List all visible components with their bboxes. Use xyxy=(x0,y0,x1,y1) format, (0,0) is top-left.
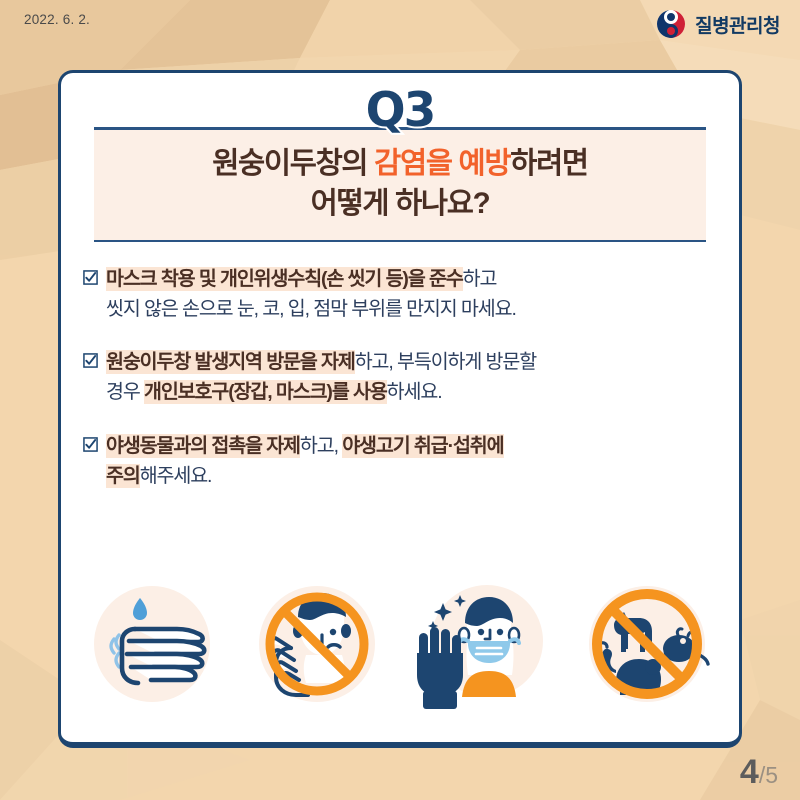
bullet-emphasis: 마스크 착용 및 개인위생수칙(손 씻기 등)을 준수 xyxy=(106,267,463,291)
bullet-emphasis: 개인보호구(장갑, 마스크)를 사용 xyxy=(144,380,387,404)
bullet-emphasis: 야생동물과의 접촉을 자제 xyxy=(106,434,300,458)
bullet-plain: 해주세요. xyxy=(140,465,212,487)
bullet-plain: 하고 xyxy=(463,268,497,290)
bullet-plain: 하세요. xyxy=(387,381,442,403)
bullet-emphasis: 야생고기 취급·섭취에 xyxy=(342,434,503,458)
bullet-item: 마스크 착용 및 개인위생수칙(손 씻기 등)을 준수하고씻지 않은 손으로 눈… xyxy=(83,264,739,324)
title-rule-bottom xyxy=(94,240,706,242)
page-total: /5 xyxy=(759,762,778,789)
page-current: 4 xyxy=(740,753,759,792)
title-segment-highlight: 감염을 예방 xyxy=(374,147,510,180)
content-card: 원숭이두창의 감염을 예방하려면 어떻게 하나요? Q3 마스크 착용 및 개인… xyxy=(58,70,742,748)
title-segment-pre: 원숭이두창의 xyxy=(212,147,374,180)
bullet-plain: 하고, xyxy=(300,435,342,457)
bullet-item: 야생동물과의 접촉을 자제하고, 야생고기 취급·섭취에주의해주세요. xyxy=(83,431,739,491)
question-title-line-1: 원숭이두창의 감염을 예방하려면 xyxy=(94,144,706,184)
bullet-text: 원숭이두창 발생지역 방문을 자제하고, 부득이하게 방문할경우 개인보호구(장… xyxy=(106,347,536,407)
title-segment-post: 하려면 xyxy=(510,147,588,180)
no-face-touching-icon xyxy=(240,577,395,712)
bullet-emphasis: 원숭이두창 발생지역 방문을 자제 xyxy=(106,350,355,374)
bullet-plain: 하고, 부득이하게 방문할 xyxy=(355,351,536,373)
no-wild-animals-icon xyxy=(570,577,725,712)
bullet-text: 마스크 착용 및 개인위생수칙(손 씻기 등)을 준수하고씻지 않은 손으로 눈… xyxy=(106,264,516,324)
publish-date: 2022. 6. 2. xyxy=(24,12,90,27)
bullet-plain: 경우 xyxy=(106,381,144,403)
checkbox-checked-icon xyxy=(83,437,98,452)
page-indicator: 4 /5 xyxy=(740,753,778,792)
korea-government-taegeuk-icon xyxy=(656,9,686,39)
page-header: 2022. 6. 2. 질병관리청 xyxy=(0,0,800,62)
question-title-line-2: 어떻게 하나요? xyxy=(94,184,706,224)
bullet-emphasis: 주의 xyxy=(106,464,140,488)
question-number-badge: Q3 xyxy=(94,87,706,134)
title-band: 원숭이두창의 감염을 예방하려면 어떻게 하나요? xyxy=(94,130,706,240)
mask-and-glove-person-icon xyxy=(405,577,560,712)
question-title-block: 원숭이두창의 감염을 예방하려면 어떻게 하나요? Q3 xyxy=(94,73,706,242)
checkbox-checked-icon xyxy=(83,270,98,285)
hand-washing-icon xyxy=(75,577,230,712)
brand-name: 질병관리청 xyxy=(695,11,780,38)
prevention-bullet-list: 마스크 착용 및 개인위생수칙(손 씻기 등)을 준수하고씻지 않은 손으로 눈… xyxy=(61,264,739,491)
checkbox-checked-icon xyxy=(83,353,98,368)
illustration-strip xyxy=(61,577,739,712)
brand-lockup: 질병관리청 xyxy=(656,9,780,39)
bullet-plain: 씻지 않은 손으로 눈, 코, 입, 점막 부위를 만지지 마세요. xyxy=(106,298,516,320)
bullet-item: 원숭이두창 발생지역 방문을 자제하고, 부득이하게 방문할경우 개인보호구(장… xyxy=(83,347,739,407)
bullet-text: 야생동물과의 접촉을 자제하고, 야생고기 취급·섭취에주의해주세요. xyxy=(106,431,504,491)
